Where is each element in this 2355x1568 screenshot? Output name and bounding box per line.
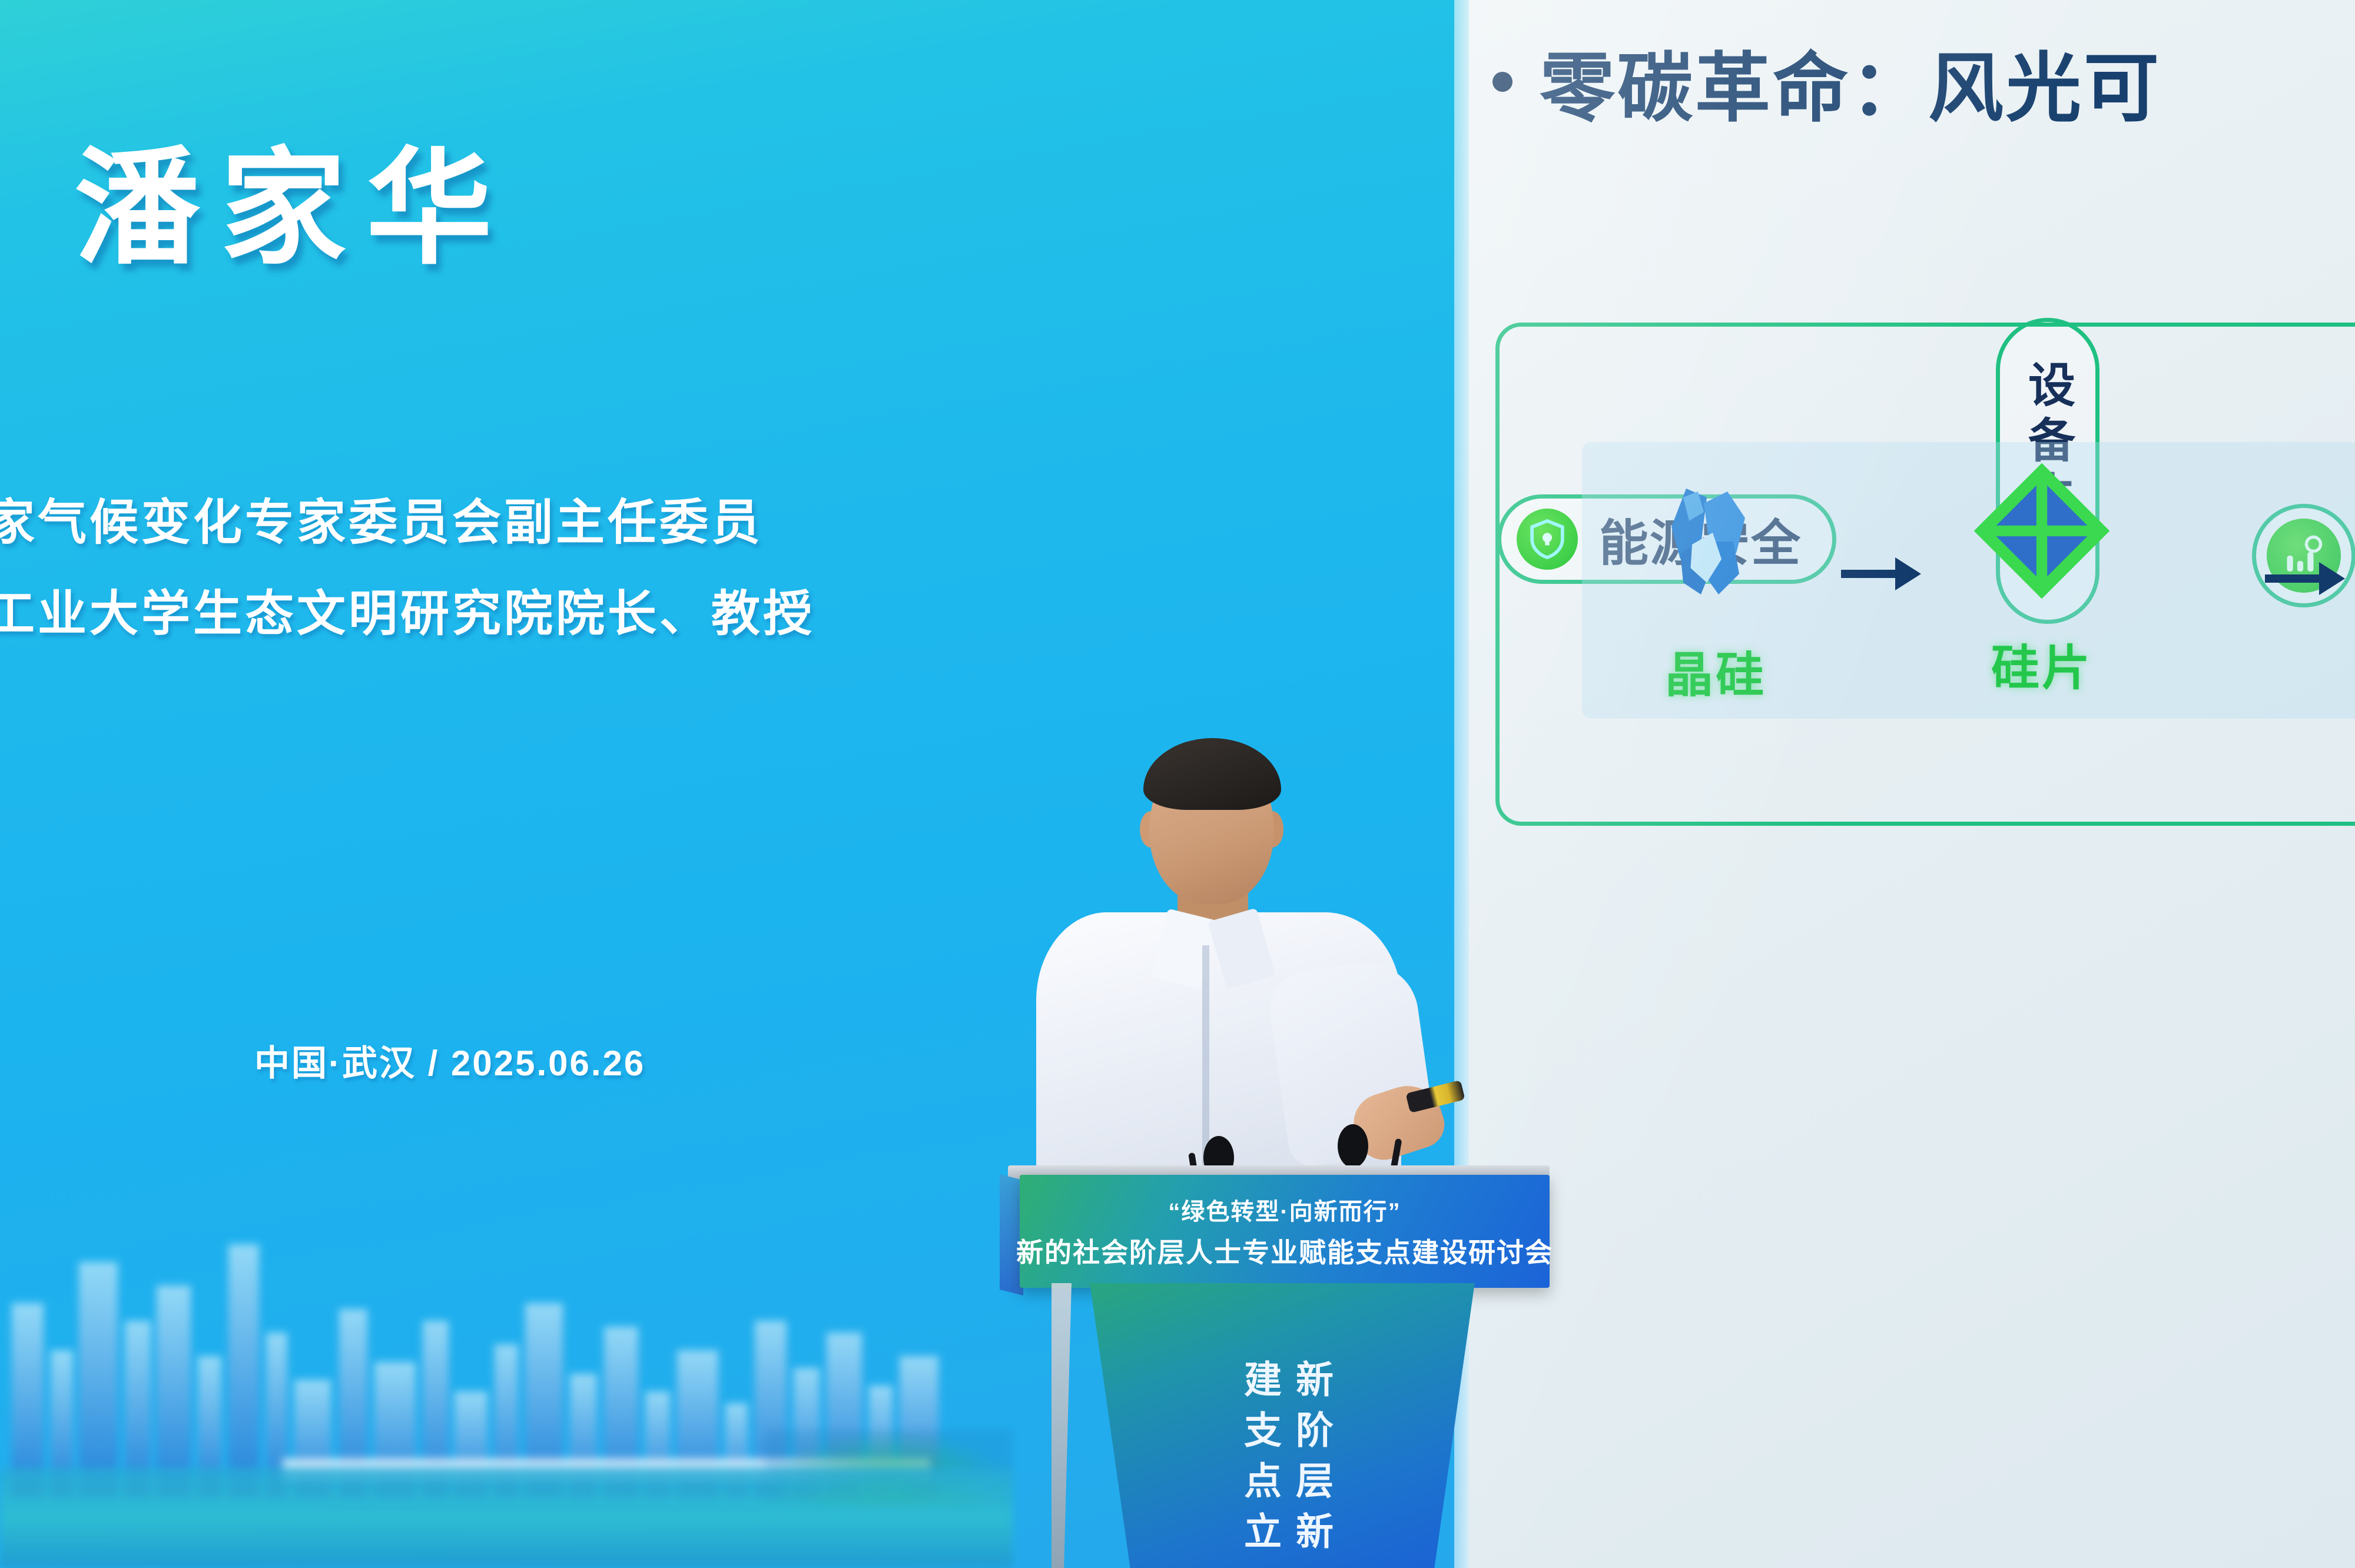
flow-arrow-1: [1841, 557, 1921, 590]
silicon-crystal-icon: [1642, 468, 1789, 618]
podium-vertical-right: 新阶层新: [1293, 1360, 1331, 1562]
slide-bullet-row: 零碳革命：风光可: [1492, 27, 2161, 136]
cityscape-silhouette: [0, 1191, 1013, 1568]
speaker-title-line-1: 家气候变化专家委员会副主任委员: [0, 483, 763, 553]
flow-step-crystal-silicon: 晶硅: [1642, 468, 1789, 706]
speaker-hair: [1143, 738, 1281, 810]
flow-step-label: 晶硅: [1665, 636, 1766, 706]
podium-sign-line-1: “绿色转型·向新而行”: [1168, 1192, 1401, 1227]
speaker-figure: [1001, 736, 1448, 1195]
podium-vertical-slogan: 建支点立 新阶层新: [1241, 1360, 1331, 1562]
speaker-name: 潘家华: [74, 146, 512, 272]
podium-sign-line-2: 新的社会阶层人士专业赋能支点建设研讨会: [1016, 1231, 1553, 1270]
flow-arrow-2: [2265, 562, 2345, 595]
slide-bullet-text: 零碳革命：风光可: [1540, 27, 2161, 136]
silicon-flow-panel: 晶硅 硅片: [1495, 323, 2355, 826]
silicon-wafer-icon: [1965, 454, 2119, 611]
podium: “绿色转型·向新而行” 新的社会阶层人士专业赋能支点建设研讨会 建支点立 新阶层…: [995, 1165, 1566, 1568]
flow-step-silicon-wafer: 硅片: [1965, 454, 2119, 699]
podium-sign: “绿色转型·向新而行” 新的社会阶层人士专业赋能支点建设研讨会: [1020, 1175, 1550, 1288]
microphone-head-right: [1338, 1124, 1368, 1168]
presentation-slide: 零碳革命：风光可 能源安全 设备生产: [1469, 0, 2355, 1568]
river-water: [0, 1468, 1013, 1568]
stage-photo: 潘家华 家气候变化专家委员会副主任委员 工业大学生态文明研究院院长、教授 中国·…: [0, 0, 2355, 1568]
flow-step-label: 硅片: [1991, 629, 2092, 699]
location-date: 中国·武汉 / 2025.06.26: [254, 1035, 645, 1086]
podium-vertical-left: 建支点立: [1241, 1360, 1279, 1562]
speaker-title-line-2: 工业大学生态文明研究院院长、教授: [0, 574, 815, 645]
bullet-dot-icon: [1492, 72, 1512, 92]
podium-left-edge: [1052, 1283, 1072, 1568]
